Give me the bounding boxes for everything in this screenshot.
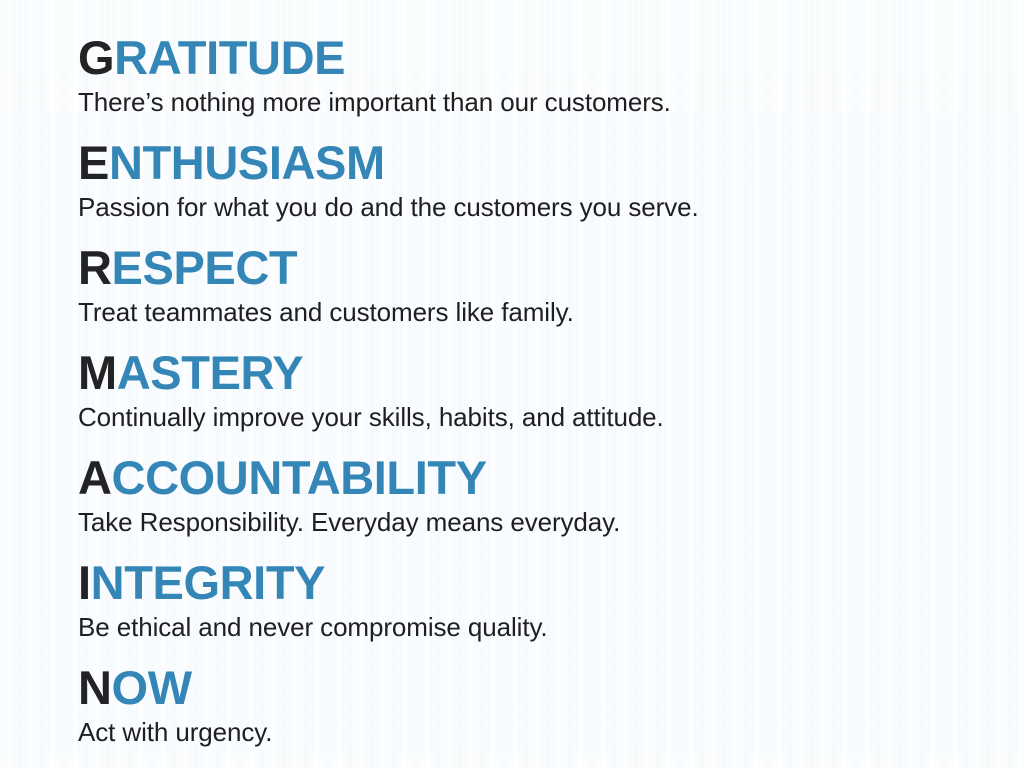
value-lead-letter: A bbox=[78, 451, 112, 504]
value-heading-rest: ASTERY bbox=[117, 346, 304, 399]
value-lead-letter: I bbox=[78, 556, 91, 609]
value-subtitle: Passion for what you do and the customer… bbox=[78, 193, 958, 222]
value-lead-letter: M bbox=[78, 346, 117, 399]
value-heading-rest: NTHUSIASM bbox=[109, 136, 385, 189]
value-lead-letter: N bbox=[78, 661, 112, 714]
value-heading-rest: OW bbox=[112, 661, 192, 714]
value-heading: NOW bbox=[78, 664, 958, 712]
value-subtitle: There’s nothing more important than our … bbox=[78, 88, 958, 117]
value-block-mastery: MASTERY Continually improve your skills,… bbox=[78, 349, 958, 432]
value-block-gratitude: GRATITUDE There’s nothing more important… bbox=[78, 34, 958, 117]
value-block-accountability: ACCOUNTABILITY Take Responsibility. Ever… bbox=[78, 454, 958, 537]
value-subtitle: Take Responsibility. Everyday means ever… bbox=[78, 508, 958, 537]
value-lead-letter: R bbox=[78, 241, 112, 294]
value-lead-letter: G bbox=[78, 31, 114, 84]
value-subtitle: Be ethical and never compromise quality. bbox=[78, 613, 958, 642]
value-block-respect: RESPECT Treat teammates and customers li… bbox=[78, 244, 958, 327]
value-block-now: NOW Act with urgency. bbox=[78, 664, 958, 747]
value-heading-rest: CCOUNTABILITY bbox=[112, 451, 487, 504]
value-heading: ENTHUSIASM bbox=[78, 139, 958, 187]
value-lead-letter: E bbox=[78, 136, 109, 189]
slide-canvas: GRATITUDE There’s nothing more important… bbox=[0, 0, 1024, 768]
value-block-integrity: INTEGRITY Be ethical and never compromis… bbox=[78, 559, 958, 642]
value-block-enthusiasm: ENTHUSIASM Passion for what you do and t… bbox=[78, 139, 958, 222]
value-subtitle: Treat teammates and customers like famil… bbox=[78, 298, 958, 327]
value-heading: ACCOUNTABILITY bbox=[78, 454, 958, 502]
value-subtitle: Continually improve your skills, habits,… bbox=[78, 403, 958, 432]
value-subtitle: Act with urgency. bbox=[78, 718, 958, 747]
value-heading-rest: NTEGRITY bbox=[91, 556, 325, 609]
value-heading-rest: ESPECT bbox=[112, 241, 298, 294]
value-heading: INTEGRITY bbox=[78, 559, 958, 607]
value-heading: GRATITUDE bbox=[78, 34, 958, 82]
value-heading: RESPECT bbox=[78, 244, 958, 292]
value-heading-rest: RATITUDE bbox=[114, 31, 345, 84]
value-heading: MASTERY bbox=[78, 349, 958, 397]
core-values-list: GRATITUDE There’s nothing more important… bbox=[78, 34, 958, 747]
